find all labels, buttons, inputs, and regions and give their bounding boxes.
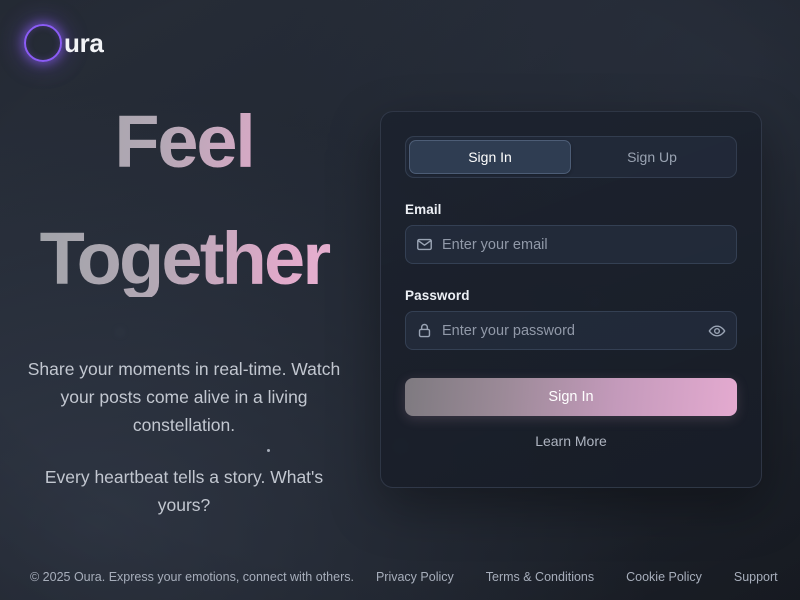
sign-in-submit-button[interactable]: Sign In [405,378,737,416]
eye-icon-glyph [708,322,726,340]
circle-ring-icon [24,24,62,62]
learn-more-link[interactable]: Learn More [405,433,737,449]
email-label: Email [405,202,737,217]
page-footer: © 2025 Oura. Express your emotions, conn… [0,554,800,600]
email-field-group: Email [405,202,737,264]
tab-sign-up-label: Sign Up [627,150,677,164]
auth-tab-bar: Sign In Sign Up [405,136,737,178]
tab-sign-in-label: Sign In [468,150,512,164]
footer-link-cookie-policy[interactable]: Cookie Policy [626,570,702,584]
password-label: Password [405,288,737,303]
password-input[interactable] [442,323,699,339]
hero-copy: Share your moments in real-time. Watch y… [18,355,350,519]
hero-headline-line-2: Together [18,221,350,296]
envelope-icon [416,236,433,253]
email-input-wrapper[interactable] [405,225,737,264]
footer-link-privacy-policy[interactable]: Privacy Policy [376,570,454,584]
hero-paragraph-1: Share your moments in real-time. Watch y… [18,355,350,439]
footer-links: Privacy Policy Terms & Conditions Cookie… [376,570,778,584]
email-input[interactable] [442,237,726,253]
tab-sign-in[interactable]: Sign In [409,140,571,174]
password-input-wrapper[interactable] [405,311,737,350]
hero-paragraph-2: Every heartbeat tells a story. What's yo… [18,463,350,519]
brand-logo[interactable]: ura [24,24,104,62]
hero-headline-line-1: Feel [18,104,350,179]
auth-card: Sign In Sign Up Email Password [380,111,762,488]
footer-link-terms-and-conditions[interactable]: Terms & Conditions [486,570,594,584]
lock-icon [416,322,433,339]
tab-sign-up[interactable]: Sign Up [571,140,733,174]
footer-link-support[interactable]: Support [734,570,778,584]
hero-section: Feel Together Share your moments in real… [0,104,368,519]
eye-icon[interactable] [708,322,726,340]
brand-name: ura [64,30,104,56]
password-field-group: Password [405,288,737,350]
footer-copyright: © 2025 Oura. Express your emotions, conn… [30,570,354,584]
